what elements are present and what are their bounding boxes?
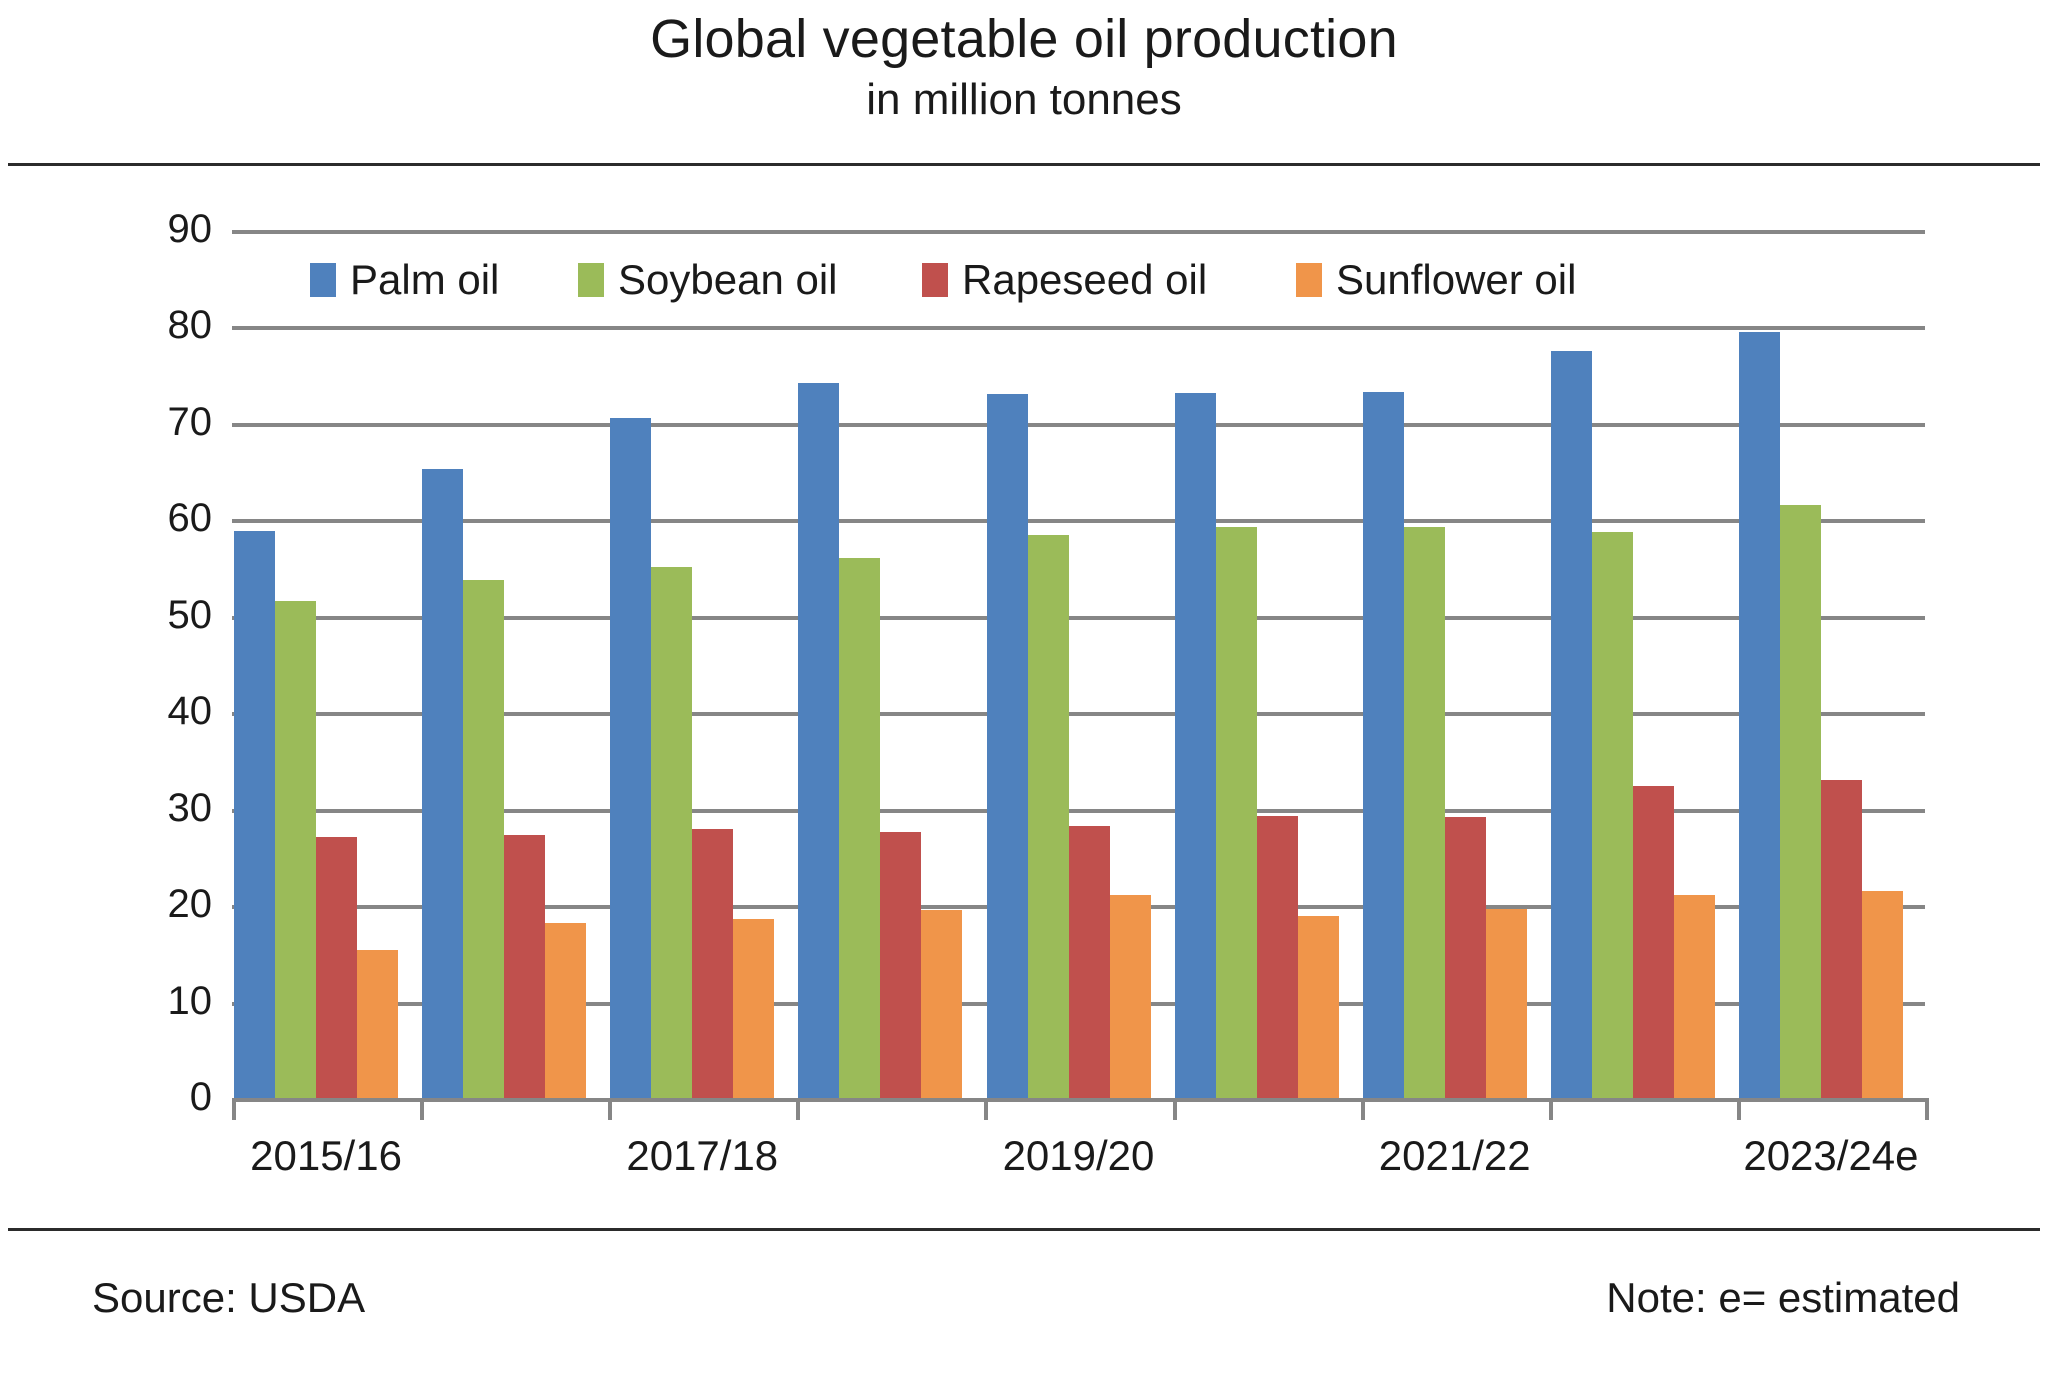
y-axis-tick-label: 60 (120, 498, 212, 538)
y-axis-tick-label: 10 (120, 981, 212, 1021)
legend-item-soybean[interactable]: Soybean oil (578, 256, 838, 304)
x-axis-tick-label: 2015/16 (176, 1132, 476, 1180)
bar-soybean-2023/24e (1780, 505, 1821, 1098)
bar-sunflower-2017/18 (733, 919, 774, 1098)
bar-palm-2023/24e (1739, 332, 1780, 1098)
y-axis-tick-label: 70 (120, 402, 212, 442)
x-axis-tick (796, 1098, 800, 1120)
bar-rapeseed-2018/19 (880, 832, 921, 1098)
y-axis-tick-label: 0 (120, 1077, 212, 1117)
gridline (232, 230, 1925, 234)
x-axis-tick-label: 2021/22 (1305, 1132, 1605, 1180)
x-axis-line (232, 1098, 1925, 1102)
bar-sunflower-2019/20 (1110, 895, 1151, 1098)
bar-rapeseed-2017/18 (692, 829, 733, 1098)
plot-area (232, 230, 1925, 1098)
legend-label: Soybean oil (618, 256, 838, 304)
footer-source: Source: USDA (92, 1272, 365, 1324)
x-axis-tick-label: 2017/18 (552, 1132, 852, 1180)
bar-soybean-2020/21 (1216, 527, 1257, 1098)
legend-item-palm[interactable]: Palm oil (310, 256, 499, 304)
bar-rapeseed-2020/21 (1257, 816, 1298, 1098)
bar-palm-2021/22 (1363, 392, 1404, 1098)
bar-palm-2020/21 (1175, 393, 1216, 1098)
y-axis-tick-label: 20 (120, 884, 212, 924)
x-axis-tick (1173, 1098, 1177, 1120)
bar-rapeseed-2023/24e (1821, 780, 1862, 1098)
legend-item-sunflower[interactable]: Sunflower oil (1296, 256, 1576, 304)
bar-sunflower-2016/17 (545, 923, 586, 1098)
x-axis-tick (608, 1098, 612, 1120)
bar-rapeseed-2022/23 (1633, 786, 1674, 1098)
chart-canvas: 0102030405060708090 2015/162017/182019/2… (0, 0, 2048, 1374)
bar-soybean-2019/20 (1028, 535, 1069, 1098)
gridline (232, 519, 1925, 523)
y-axis-tick-label: 50 (120, 595, 212, 635)
bar-sunflower-2018/19 (921, 910, 962, 1098)
legend-swatch-soybean-icon (578, 263, 604, 297)
x-axis-tick-label: 2023/24e (1681, 1132, 1981, 1180)
gridline (232, 326, 1925, 330)
divider-bottom (8, 1228, 2040, 1231)
bar-soybean-2015/16 (275, 601, 316, 1098)
legend-label: Rapeseed oil (962, 256, 1207, 304)
legend-label: Palm oil (350, 256, 499, 304)
x-axis-tick-label: 2019/20 (929, 1132, 1229, 1180)
x-axis-tick (232, 1098, 236, 1120)
bar-palm-2018/19 (798, 383, 839, 1098)
footer-note: Note: e= estimated (1606, 1272, 1960, 1324)
bar-sunflower-2015/16 (357, 950, 398, 1098)
x-axis-tick (1361, 1098, 1365, 1120)
y-axis-tick-label: 40 (120, 691, 212, 731)
legend-swatch-rapeseed-icon (922, 263, 948, 297)
legend-label: Sunflower oil (1336, 256, 1576, 304)
legend-swatch-sunflower-icon (1296, 263, 1322, 297)
bar-sunflower-2021/22 (1486, 909, 1527, 1098)
legend-item-rapeseed[interactable]: Rapeseed oil (922, 256, 1207, 304)
y-axis-tick-label: 90 (120, 209, 212, 249)
bar-sunflower-2023/24e (1862, 891, 1903, 1098)
y-axis-tick-label: 30 (120, 788, 212, 828)
x-axis-tick (1925, 1098, 1929, 1120)
legend-swatch-palm-icon (310, 263, 336, 297)
bar-rapeseed-2021/22 (1445, 817, 1486, 1098)
bar-rapeseed-2016/17 (504, 835, 545, 1098)
y-axis-tick-label: 80 (120, 305, 212, 345)
gridline (232, 423, 1925, 427)
x-axis-tick (984, 1098, 988, 1120)
bar-palm-2017/18 (610, 418, 651, 1098)
bar-sunflower-2020/21 (1298, 916, 1339, 1098)
bar-palm-2015/16 (234, 531, 275, 1098)
x-axis-tick (1737, 1098, 1741, 1120)
x-axis-tick (1549, 1098, 1553, 1120)
bar-soybean-2022/23 (1592, 532, 1633, 1098)
bar-palm-2022/23 (1551, 351, 1592, 1098)
bar-rapeseed-2015/16 (316, 837, 357, 1098)
x-axis-tick (420, 1098, 424, 1120)
bar-soybean-2017/18 (651, 567, 692, 1098)
bar-soybean-2016/17 (463, 580, 504, 1098)
bar-rapeseed-2019/20 (1069, 826, 1110, 1098)
bar-palm-2019/20 (987, 394, 1028, 1098)
bar-palm-2016/17 (422, 469, 463, 1098)
chart-legend: Palm oilSoybean oilRapeseed oilSunflower… (232, 256, 1925, 316)
bar-sunflower-2022/23 (1674, 895, 1715, 1098)
bar-soybean-2018/19 (839, 558, 880, 1098)
bar-soybean-2021/22 (1404, 527, 1445, 1098)
